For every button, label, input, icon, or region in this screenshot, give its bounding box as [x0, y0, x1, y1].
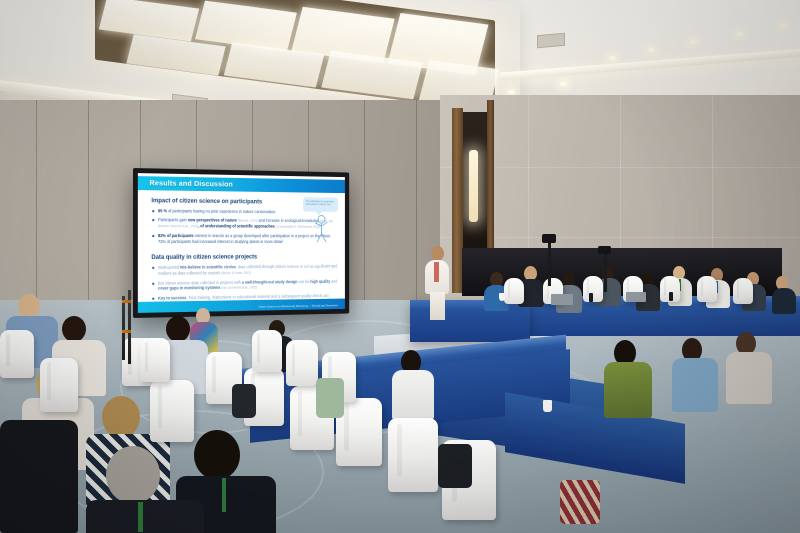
tripod-stand [604, 252, 607, 292]
backpack [316, 378, 344, 418]
chair [286, 340, 318, 386]
ceiling-downlight [690, 40, 697, 44]
ceiling-downlight [736, 32, 743, 36]
slide-bullet: But citizen science data collected in pr… [151, 279, 338, 293]
backpack [438, 444, 472, 488]
backpack [232, 384, 256, 418]
stanchion-belt [122, 300, 131, 303]
bullet-lead: Widespread [158, 265, 179, 270]
slide-illustration: The definitely for beginners interested … [301, 197, 339, 245]
camera-head [542, 234, 556, 243]
projection-screen: Results and Discussion Impact of citizen… [133, 168, 349, 318]
microphone [589, 293, 593, 302]
ceiling-downlight [560, 82, 567, 86]
slide-section-heading-2: Data quality in citizen science projects [151, 254, 338, 262]
stanchion-belt [122, 330, 131, 333]
bullet-citation: (Moczek, 2019) [237, 219, 258, 223]
cup [543, 400, 552, 412]
ceiling-downlight [648, 48, 655, 52]
bullet-text: new perspectives of nature [187, 217, 237, 222]
chair [252, 330, 282, 372]
bullet-citation: (van Zonneveld & al., 2020) [221, 286, 258, 290]
ceiling-downlight [508, 90, 515, 94]
conference-room-photo: Results and Discussion Impact of citizen… [0, 0, 800, 533]
slide-bullet: Widespread mis-believe in scientific cir… [151, 264, 338, 277]
ceiling-downlight [609, 56, 616, 60]
bullet-citation: (Riesch & Potter, 2013) [220, 271, 251, 275]
bullet-text-6: cover gaps in monitoring systems [158, 285, 220, 291]
bullet-text-2: a well-thought-out study design [241, 279, 298, 284]
bullet-lead: Participants gain [158, 217, 187, 222]
bullet-text-3: , of understanding of scientific approac… [198, 224, 275, 229]
laptop [626, 292, 646, 302]
chair [504, 278, 524, 304]
speech-bubble: The definitely for beginners interested … [303, 197, 338, 212]
ceiling-downlight [779, 24, 786, 28]
lanyard [138, 502, 143, 532]
laptop [551, 294, 573, 305]
chair [150, 380, 194, 442]
head-table [410, 300, 530, 342]
ceiling-air-vent [537, 33, 565, 48]
microphone [669, 292, 673, 301]
bullet-lead: 65 % [158, 208, 167, 213]
stanchion-post [122, 296, 125, 360]
bullet-lead: 82% of participants [158, 233, 194, 238]
bullet-text: mis-believe in scientific circles [179, 265, 236, 270]
bullet-text-5: and [330, 279, 337, 284]
chair [583, 276, 603, 302]
slide-footer-text: Citizen Science and Biodiversity Monitor… [259, 303, 338, 308]
chair [388, 418, 438, 492]
bullet-text: of participants having no prior experien… [167, 208, 275, 214]
wall-sconce-light [469, 150, 478, 222]
presentation-slide: Results and Discussion Impact of citizen… [138, 173, 345, 313]
handbag [560, 480, 600, 524]
chair [0, 330, 34, 378]
chair [697, 276, 717, 302]
bullet-text-4: high quality [309, 279, 330, 284]
lanyard [222, 478, 226, 512]
stick-figure-icon [314, 215, 330, 243]
bullet-text-3: can be [297, 279, 309, 284]
cup [499, 293, 505, 301]
speech-bubble-text: The definitely for beginners interested … [306, 200, 336, 207]
chair [733, 278, 753, 304]
chair [140, 338, 170, 382]
chair [40, 358, 78, 412]
tripod-stand [548, 240, 551, 286]
slide-title: Results and Discussion [149, 178, 233, 188]
camera-head [598, 246, 611, 254]
